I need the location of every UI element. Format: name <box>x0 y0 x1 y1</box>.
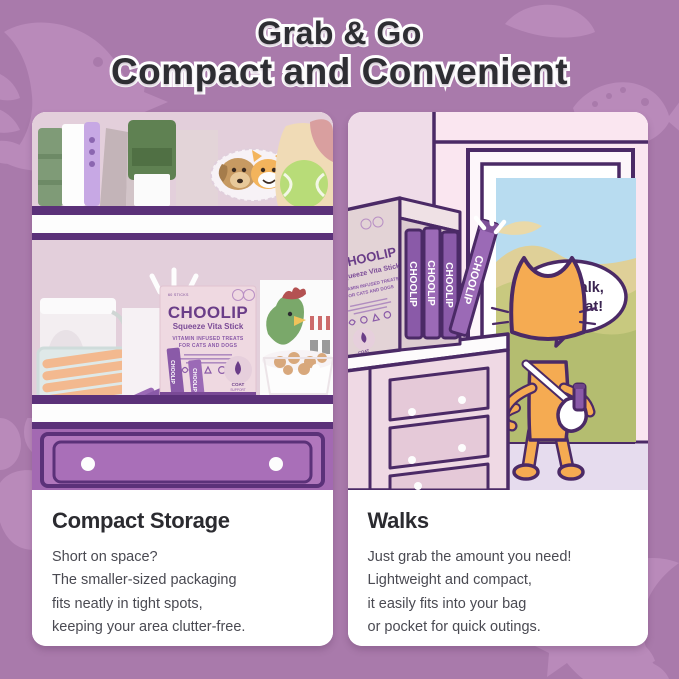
card-body-line: or pocket for quick outings. <box>368 616 629 639</box>
card-body-line: Just grab the amount you need! <box>368 546 629 569</box>
card-body-line: fits neatly in tight spots, <box>52 593 313 616</box>
svg-text:Squeeze Vita Stick: Squeeze Vita Stick <box>173 322 244 331</box>
svg-text:SUPPORT: SUPPORT <box>230 388 245 392</box>
card-body-line: The smaller-sized packaging <box>52 569 313 592</box>
illustration-cat-leaving-front-door: One walk, one treat! <box>348 112 649 490</box>
card-body-line: Short on space? <box>52 546 313 569</box>
illustration-refrigerator-shelf: CHOOLIP CHOOLIP CHOOLIP <box>32 112 333 490</box>
card-body: Short on space? The smaller-sized packag… <box>52 546 313 640</box>
svg-text:COAT: COAT <box>232 382 245 387</box>
card-text-compact-storage: Compact Storage Short on space? The smal… <box>32 490 333 646</box>
card-text-walks: Walks Just grab the amount you need! Lig… <box>348 490 649 646</box>
svg-text:CHOOLIP: CHOOLIP <box>425 260 436 306</box>
svg-text:CHOOLIP: CHOOLIP <box>407 261 418 307</box>
svg-text:CHOOLIP: CHOOLIP <box>169 360 175 384</box>
card-title: Compact Storage <box>52 508 313 534</box>
svg-text:60 STICKS: 60 STICKS <box>168 293 189 297</box>
entryway-scene-svg: One walk, one treat! <box>348 112 649 490</box>
header-title-line2: Compact and Convenient <box>111 52 568 92</box>
card-body: Just grab the amount you need! Lightweig… <box>368 546 629 640</box>
card-walks[interactable]: One walk, one treat! <box>348 112 649 646</box>
card-body-line: Lightweight and compact, <box>368 569 629 592</box>
fridge-scene-svg: CHOOLIP CHOOLIP CHOOLIP <box>32 112 333 490</box>
svg-text:CHOOLIP: CHOOLIP <box>191 368 197 392</box>
card-body-line: keeping your area clutter-free. <box>52 616 313 639</box>
header: Grab & Go Compact and Convenient <box>0 0 679 108</box>
card-title: Walks <box>368 508 629 534</box>
card-compact-storage[interactable]: CHOOLIP CHOOLIP CHOOLIP <box>32 112 333 646</box>
svg-text:FOR CATS AND DOGS: FOR CATS AND DOGS <box>179 343 238 349</box>
svg-text:CHOOLIP: CHOOLIP <box>443 262 454 308</box>
product-box-front: 60 STICKS CHOOLIP Squeeze Vita Stick VIT… <box>160 286 256 401</box>
header-title-line1: Grab & Go <box>257 16 422 51</box>
svg-text:VITAMIN INFUSED TREATS: VITAMIN INFUSED TREATS <box>172 336 244 342</box>
card-body-line: it easily fits into your bag <box>368 593 629 616</box>
feature-cards: CHOOLIP CHOOLIP CHOOLIP <box>32 112 648 646</box>
svg-text:CHOOLIP: CHOOLIP <box>168 303 248 322</box>
treat-sticks-in-box: CHOOLIP CHOOLIP CHOOLIP <box>406 228 458 338</box>
